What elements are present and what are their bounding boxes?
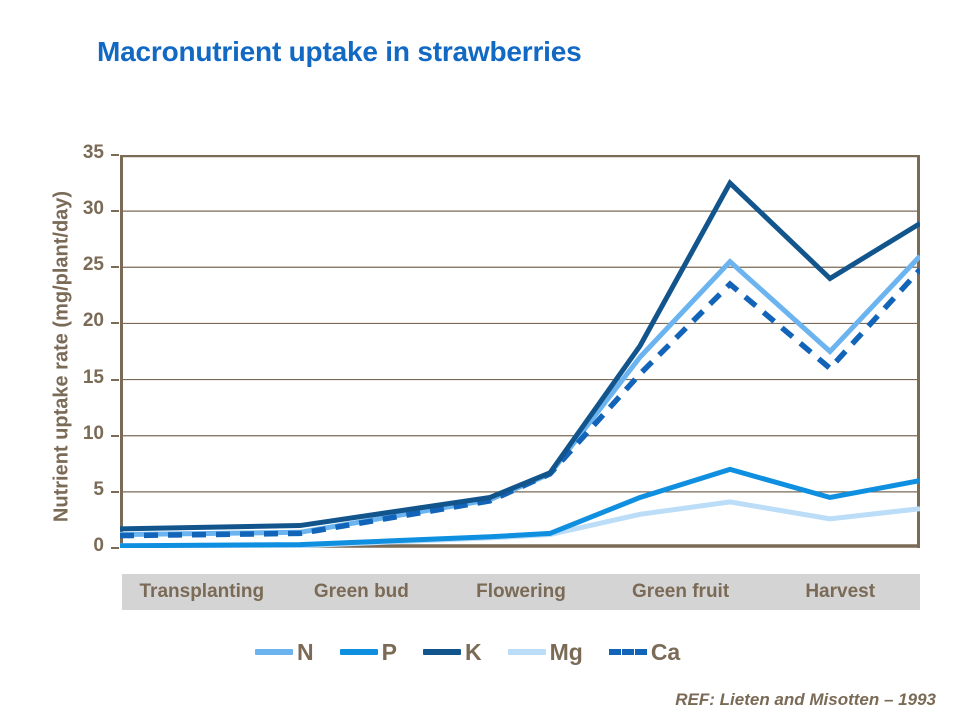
y-axis-tick-label: 0 <box>62 535 104 557</box>
legend-swatch-p <box>340 649 378 655</box>
y-axis-tick-label: 10 <box>62 423 104 445</box>
legend-label-n: N <box>297 639 314 666</box>
y-axis-tick-mark <box>111 379 119 381</box>
series-line-ca <box>120 270 920 536</box>
legend-item-n[interactable]: N <box>255 639 314 666</box>
plot-area <box>120 155 920 548</box>
legend-item-k[interactable]: K <box>423 639 482 666</box>
legend-label-k: K <box>465 639 482 666</box>
legend-label-p: P <box>382 639 397 666</box>
y-axis-tick-label: 30 <box>62 198 104 220</box>
legend-label-ca: Ca <box>651 639 680 666</box>
legend-swatch-n <box>255 649 293 655</box>
category-axis-band: TransplantingGreen budFloweringGreen fru… <box>122 574 920 610</box>
y-axis-tick-mark <box>111 266 119 268</box>
y-axis-tick-mark <box>111 547 119 549</box>
legend-swatch-k <box>423 649 461 655</box>
category-label-green-fruit: Green fruit <box>601 574 761 610</box>
y-axis-tick-mark <box>111 154 119 156</box>
legend-swatch-mg <box>508 649 546 655</box>
page-title: Macronutrient uptake in strawberries <box>97 36 581 68</box>
legend-item-ca[interactable]: Ca <box>609 639 680 666</box>
y-axis-tick-label: 15 <box>62 367 104 389</box>
y-axis-tick-label: 20 <box>62 310 104 332</box>
legend-item-p[interactable]: P <box>340 639 397 666</box>
slide-canvas: Macronutrient uptake in strawberries Nut… <box>0 0 960 720</box>
category-label-harvest: Harvest <box>760 574 920 610</box>
series-line-k <box>120 183 920 529</box>
category-label-transplanting: Transplanting <box>122 574 282 610</box>
y-axis-tick-mark <box>111 322 119 324</box>
chart-legend: NPKMgCa <box>255 637 706 667</box>
legend-item-mg[interactable]: Mg <box>508 639 583 666</box>
y-axis-tick-mark <box>111 210 119 212</box>
category-label-green-bud: Green bud <box>282 574 442 610</box>
y-axis-tick-mark <box>111 435 119 437</box>
y-axis-tick-mark <box>111 491 119 493</box>
series-line-mg <box>120 502 920 546</box>
category-label-flowering: Flowering <box>441 574 601 610</box>
reference-note: REF: Lieten and Misotten – 1993 <box>675 690 936 710</box>
legend-label-mg: Mg <box>550 639 583 666</box>
y-axis-tick-label: 5 <box>62 479 104 501</box>
line-chart-svg <box>120 155 920 548</box>
y-axis-tick-label: 25 <box>62 254 104 276</box>
legend-swatch-ca <box>609 649 647 655</box>
series-line-n <box>120 256 920 534</box>
y-axis-tick-label: 35 <box>62 142 104 164</box>
